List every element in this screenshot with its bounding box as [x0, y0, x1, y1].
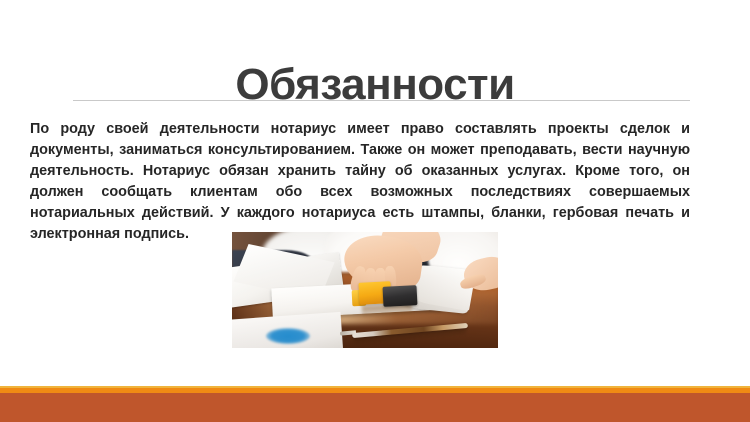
- notary-stamping-photo: [232, 232, 498, 348]
- photo-rubber-stamp-base: [382, 285, 417, 307]
- title-divider: [73, 100, 690, 101]
- presentation-slide: Обязанности По роду своей деятельности н…: [0, 0, 750, 422]
- photo-blue-seal-mark: [266, 328, 310, 344]
- slide-body-text: По роду своей деятельности нотариус имее…: [30, 119, 690, 245]
- footer-bar-terracotta: [0, 393, 750, 422]
- page-title: Обязанности: [0, 59, 750, 111]
